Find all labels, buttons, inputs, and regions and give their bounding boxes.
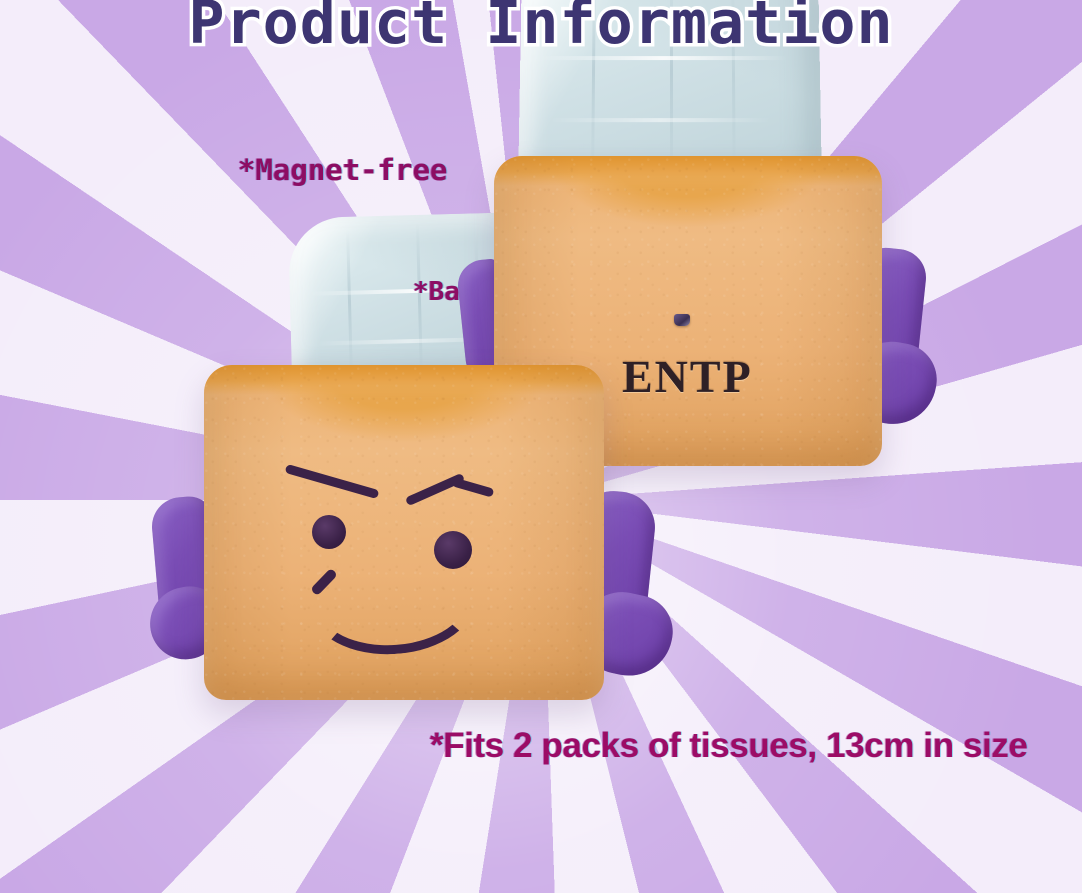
note-fits-two-packs-of-tissues: *Fits 2 packs of tissues, 13cm in size — [430, 726, 1028, 766]
left-eye-icon — [312, 515, 346, 549]
product-information-slide: ENTP — [0, 0, 1082, 893]
personality-type-embroidery: ENTP — [622, 350, 753, 403]
left-eyebrow-icon — [285, 464, 380, 499]
smirk-face-embroidery — [204, 365, 604, 700]
note-magnet-free: *Magnet-free — [238, 153, 448, 187]
right-eyebrow-outer-icon — [452, 477, 495, 497]
page-title: Product Information — [0, 0, 1082, 58]
brand-tag-icon — [674, 314, 690, 326]
front-plush-body — [204, 365, 604, 700]
